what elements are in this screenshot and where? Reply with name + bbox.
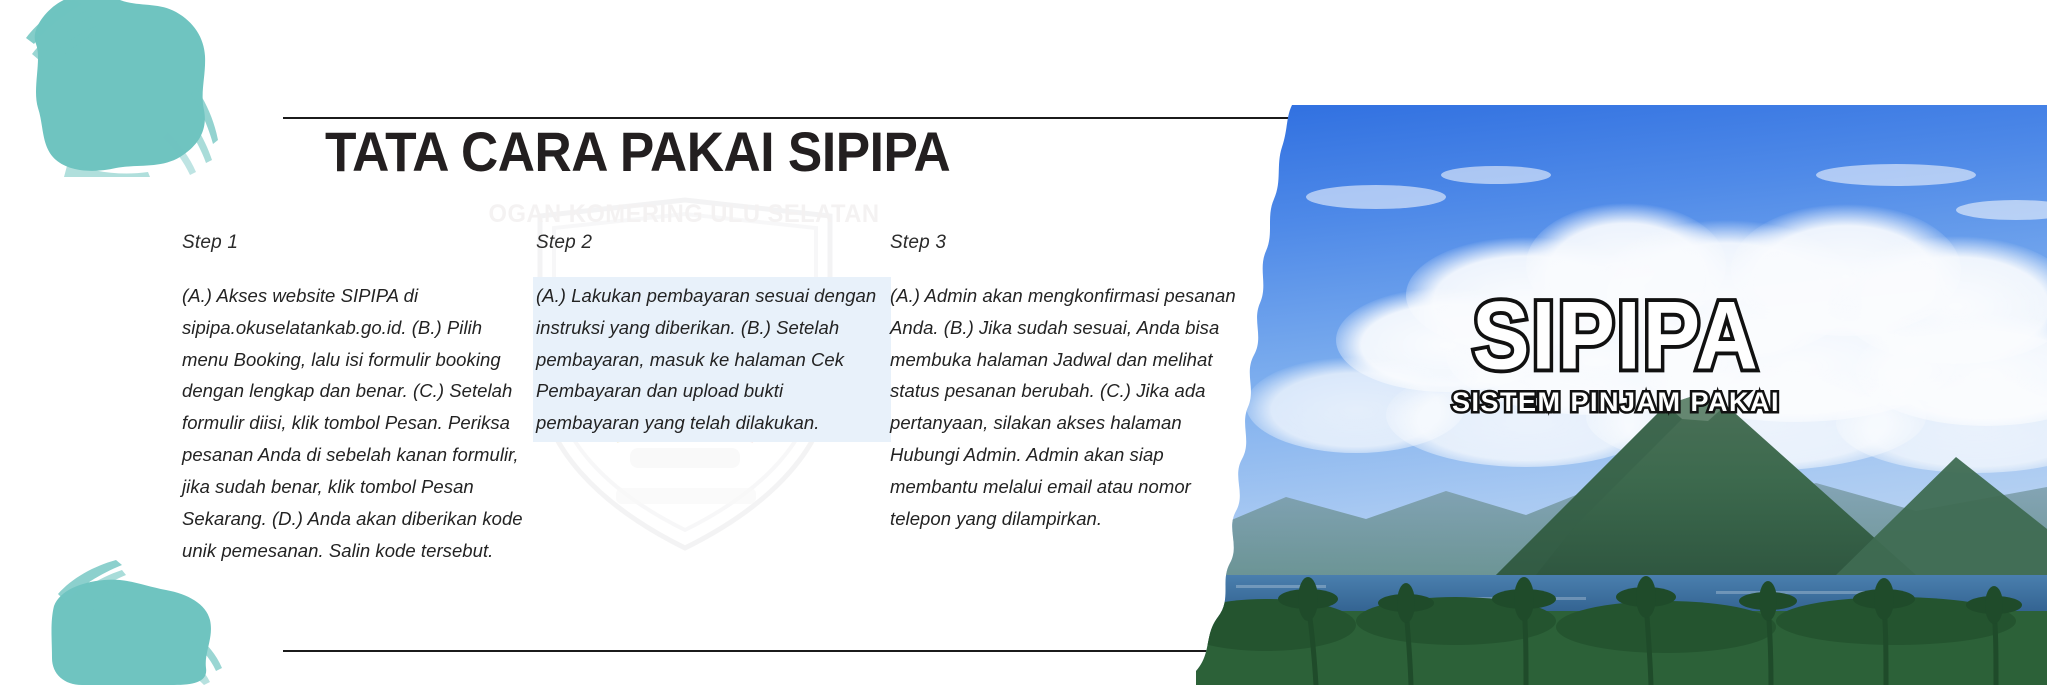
- step-body-3: (A.) Admin akan mengkonfirmasi pesanan A…: [890, 280, 1242, 535]
- step-column-3: Step 3 (A.) Admin akan mengkonfirmasi pe…: [890, 232, 1242, 535]
- step-column-2: Step 2 (A.) Lakukan pembayaran sesuai de…: [536, 232, 888, 439]
- teal-brush-stroke-top: [8, 0, 238, 177]
- step-body-2: (A.) Lakukan pembayaran sesuai dengan in…: [536, 280, 888, 439]
- step-label-3: Step 3: [890, 232, 1242, 254]
- landscape-photo: SIPIPA SISTEM PINJAM PAKAI: [1196, 105, 2047, 685]
- poster-canvas: TATA CARA PAKAI SIPIPA OGAN KOMERING ULU…: [0, 0, 2047, 685]
- step-column-1: Step 1 (A.) Akses website SIPIPA di sipi…: [182, 232, 532, 566]
- step-body-1: (A.) Akses website SIPIPA di sipipa.okus…: [182, 280, 532, 566]
- watermark-text: OGAN KOMERING ULU SELATAN: [418, 200, 950, 229]
- step-label-2: Step 2: [536, 232, 888, 254]
- step-label-1: Step 1: [182, 232, 532, 254]
- teal-brush-stroke-bottom: [24, 548, 274, 685]
- page-title: TATA CARA PAKAI SIPIPA: [325, 124, 950, 180]
